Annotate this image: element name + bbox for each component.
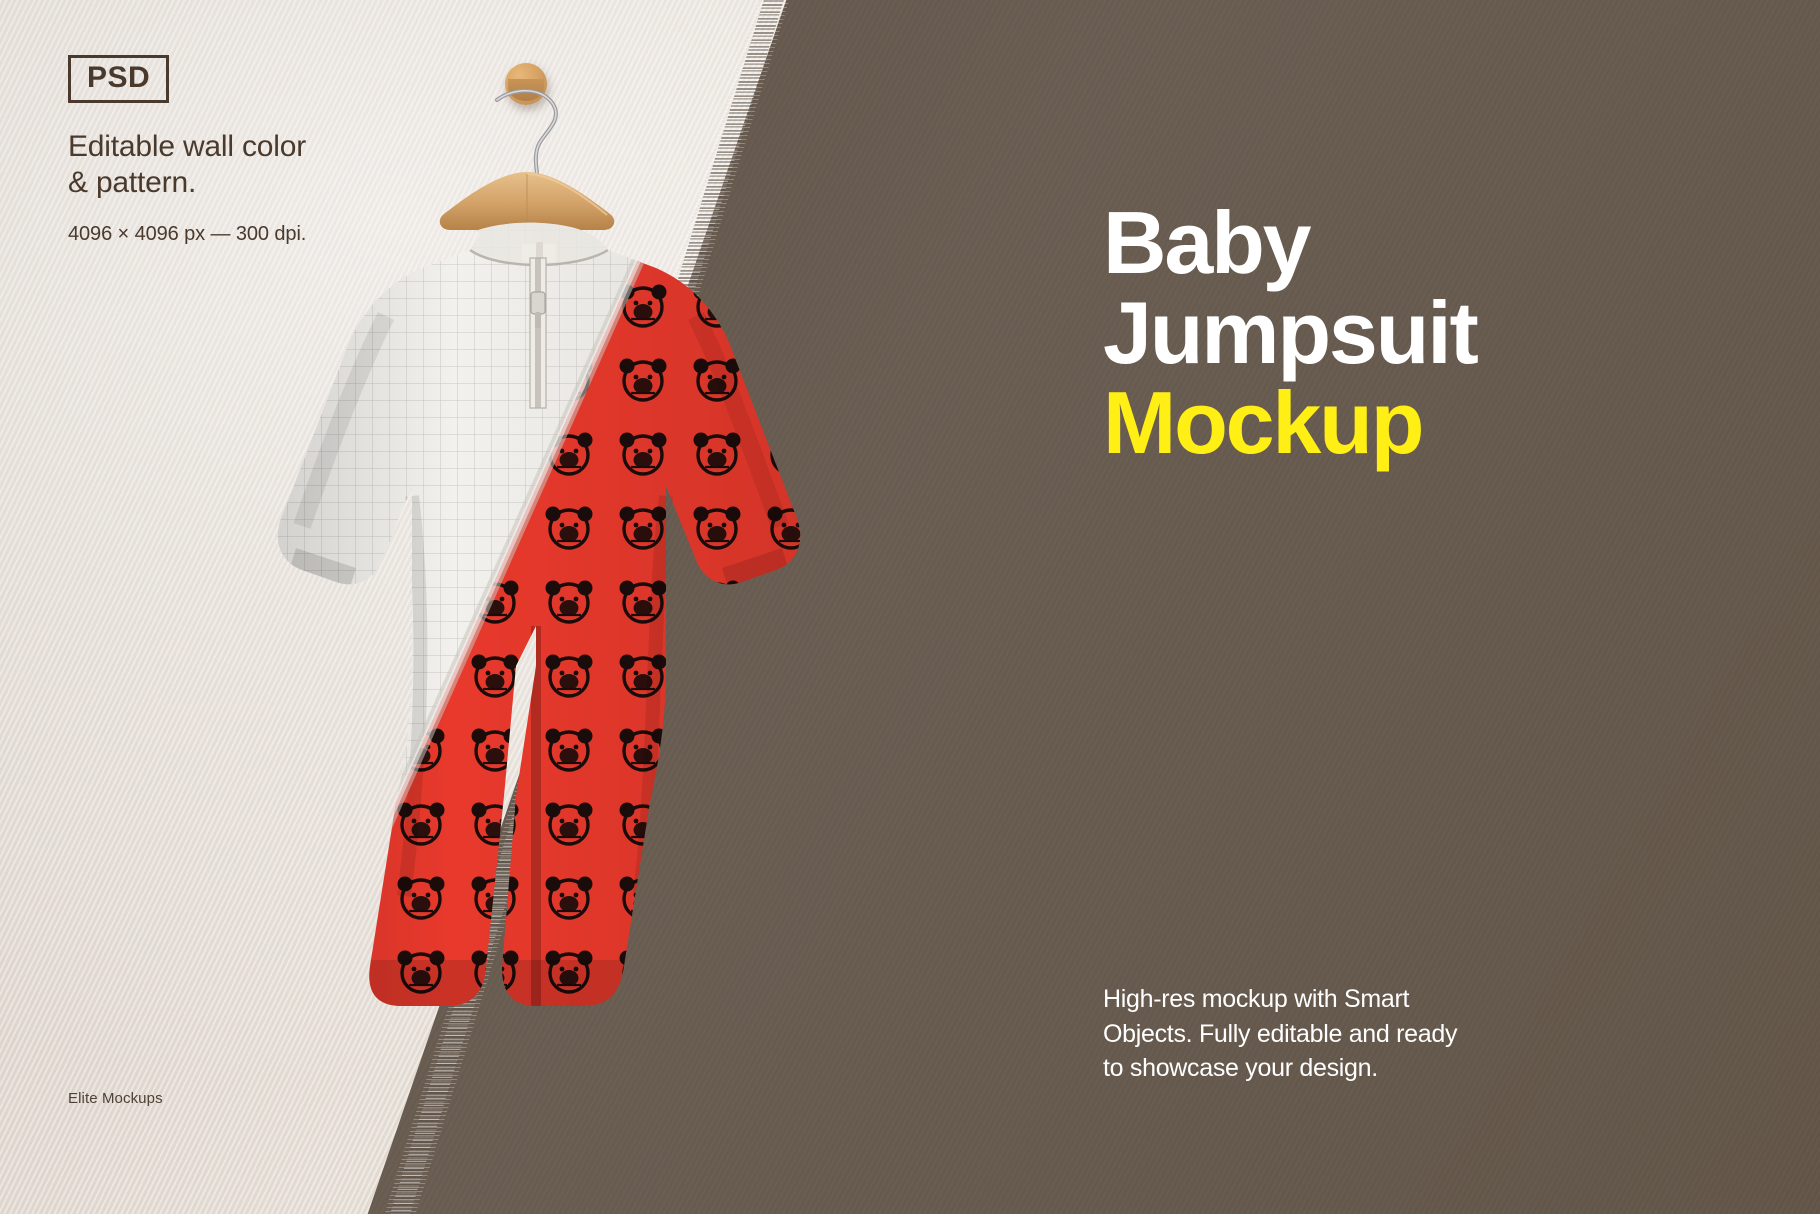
title-block: Baby Jumpsuit Mockup [1103, 198, 1723, 467]
psd-badge: PSD [68, 55, 169, 103]
title-line-2: Jumpsuit [1103, 288, 1723, 378]
description-line-1: High-res mockup with Smart [1103, 982, 1573, 1017]
left-headline-line1: Editable wall color [68, 129, 398, 165]
left-info-column: PSD Editable wall color & pattern. 4096 … [68, 55, 398, 246]
mockup-poster: PSD Editable wall color & pattern. 4096 … [0, 0, 1820, 1214]
brand-credit: Elite Mockups [68, 1090, 163, 1107]
dimensions-spec: 4096 × 4096 px — 300 dpi. [68, 223, 398, 246]
description-paragraph: High-res mockup with Smart Objects. Full… [1103, 982, 1573, 1086]
description-line-2: Objects. Fully editable and ready [1103, 1017, 1573, 1052]
title-line-1: Baby [1103, 198, 1723, 288]
baby-jumpsuit-graphic [236, 196, 856, 1026]
description-line-3: to showcase your design. [1103, 1051, 1573, 1086]
left-headline-line2: & pattern. [68, 165, 398, 201]
left-headline: Editable wall color & pattern. [68, 129, 398, 201]
title-line-3: Mockup [1103, 378, 1723, 468]
